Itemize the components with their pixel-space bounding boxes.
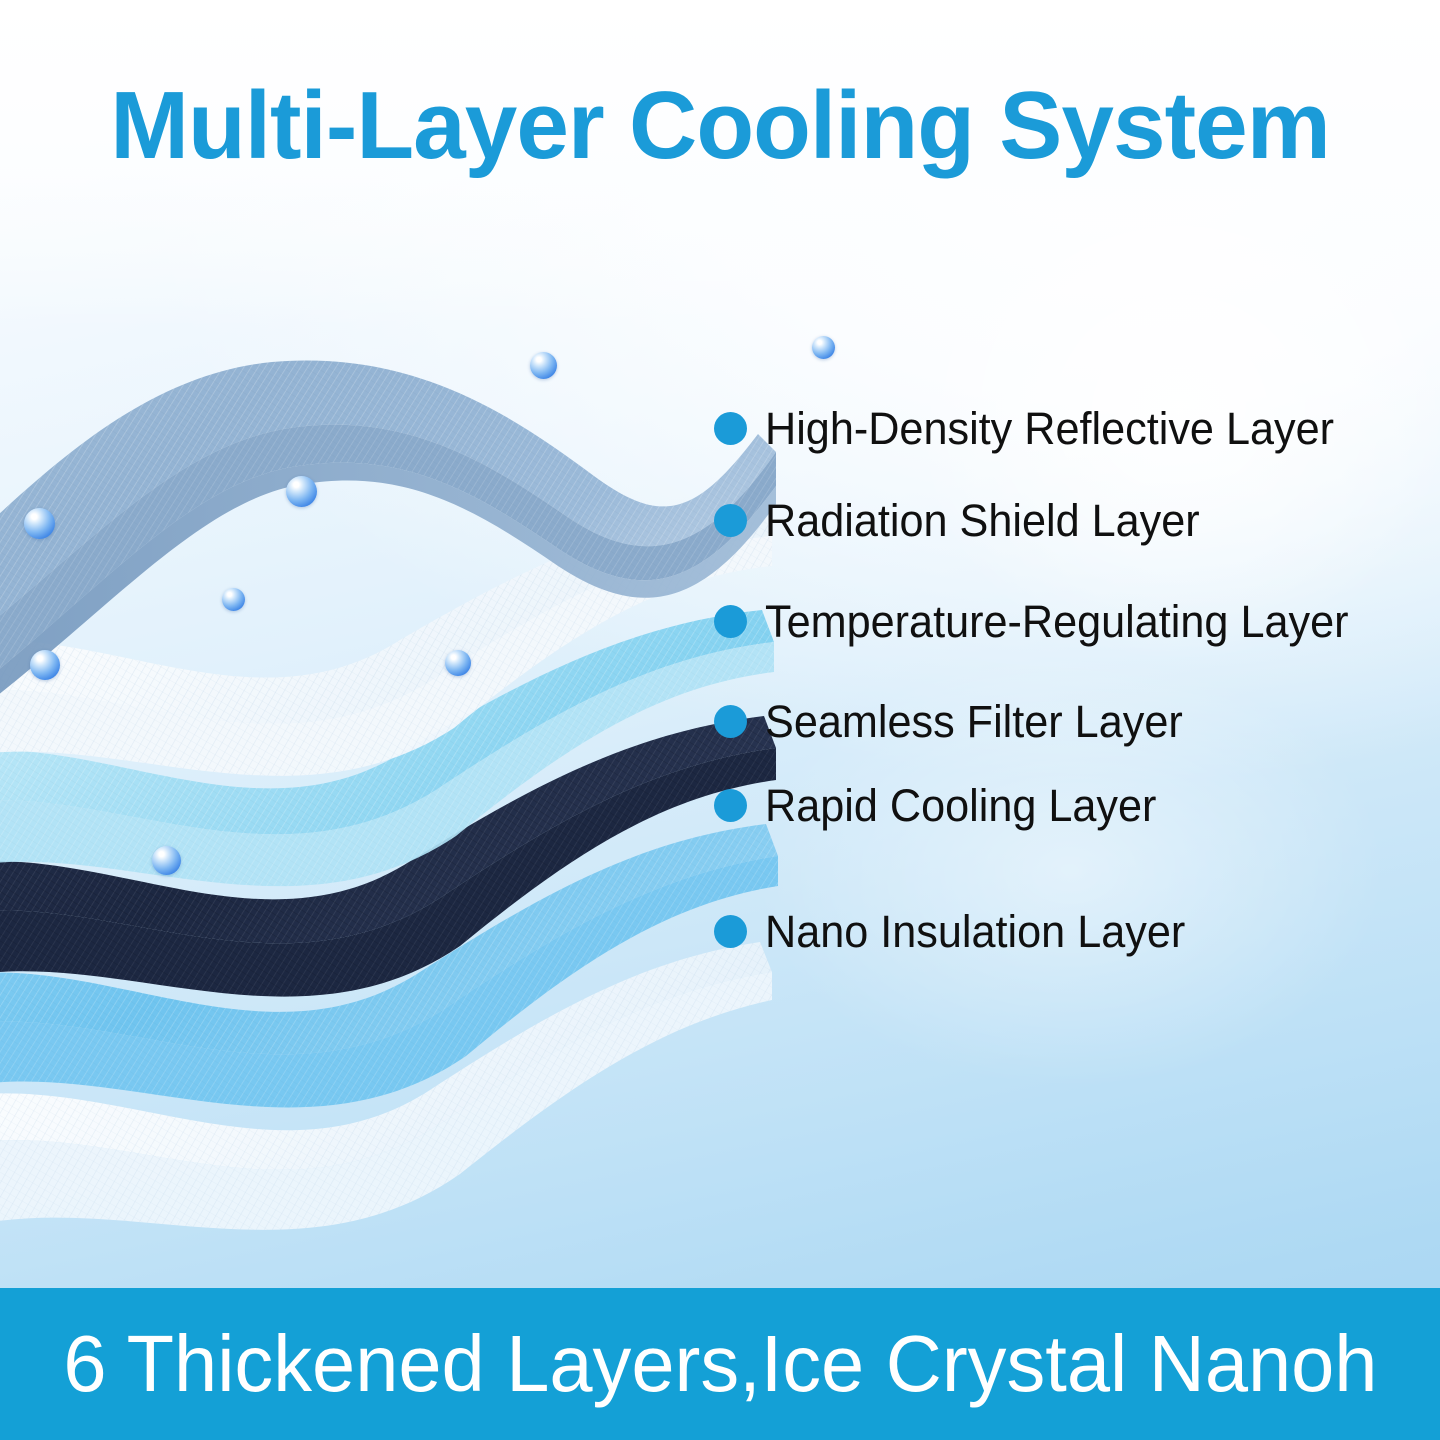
infographic-page: Multi-Layer Cooling System: [0, 0, 1440, 1440]
bottom-banner: 6 Thickened Layers,Ice Crystal Nanoh: [0, 1288, 1440, 1440]
water-droplet: [30, 650, 60, 680]
water-droplet: [152, 846, 181, 875]
list-item: High-Density Reflective Layer: [714, 406, 1358, 451]
water-droplet: [24, 508, 55, 539]
water-droplet: [286, 476, 317, 507]
feature-label: Seamless Filter Layer: [765, 699, 1183, 744]
bullet-dot-icon: [714, 412, 747, 445]
list-item: Temperature-Regulating Layer: [714, 599, 1373, 644]
bullet-dot-icon: [714, 789, 747, 822]
list-item: Rapid Cooling Layer: [714, 783, 1173, 828]
bullet-dot-icon: [714, 605, 747, 638]
feature-label: Radiation Shield Layer: [765, 498, 1200, 543]
feature-label: Rapid Cooling Layer: [765, 783, 1156, 828]
bullet-dot-icon: [714, 705, 747, 738]
banner-text: 6 Thickened Layers,Ice Crystal Nanoh: [63, 1324, 1377, 1404]
feature-label: High-Density Reflective Layer: [765, 406, 1334, 451]
bullet-dot-icon: [714, 915, 747, 948]
page-title: Multi-Layer Cooling System: [11, 78, 1429, 174]
list-item: Seamless Filter Layer: [714, 699, 1200, 744]
list-item: Radiation Shield Layer: [714, 498, 1218, 543]
list-item: Nano Insulation Layer: [714, 909, 1203, 954]
bullet-dot-icon: [714, 504, 747, 537]
water-droplet: [812, 336, 835, 359]
feature-label: Nano Insulation Layer: [765, 909, 1185, 954]
feature-label: Temperature-Regulating Layer: [765, 599, 1349, 644]
water-droplet: [222, 588, 245, 611]
water-droplet: [530, 352, 557, 379]
water-droplet: [445, 650, 471, 676]
